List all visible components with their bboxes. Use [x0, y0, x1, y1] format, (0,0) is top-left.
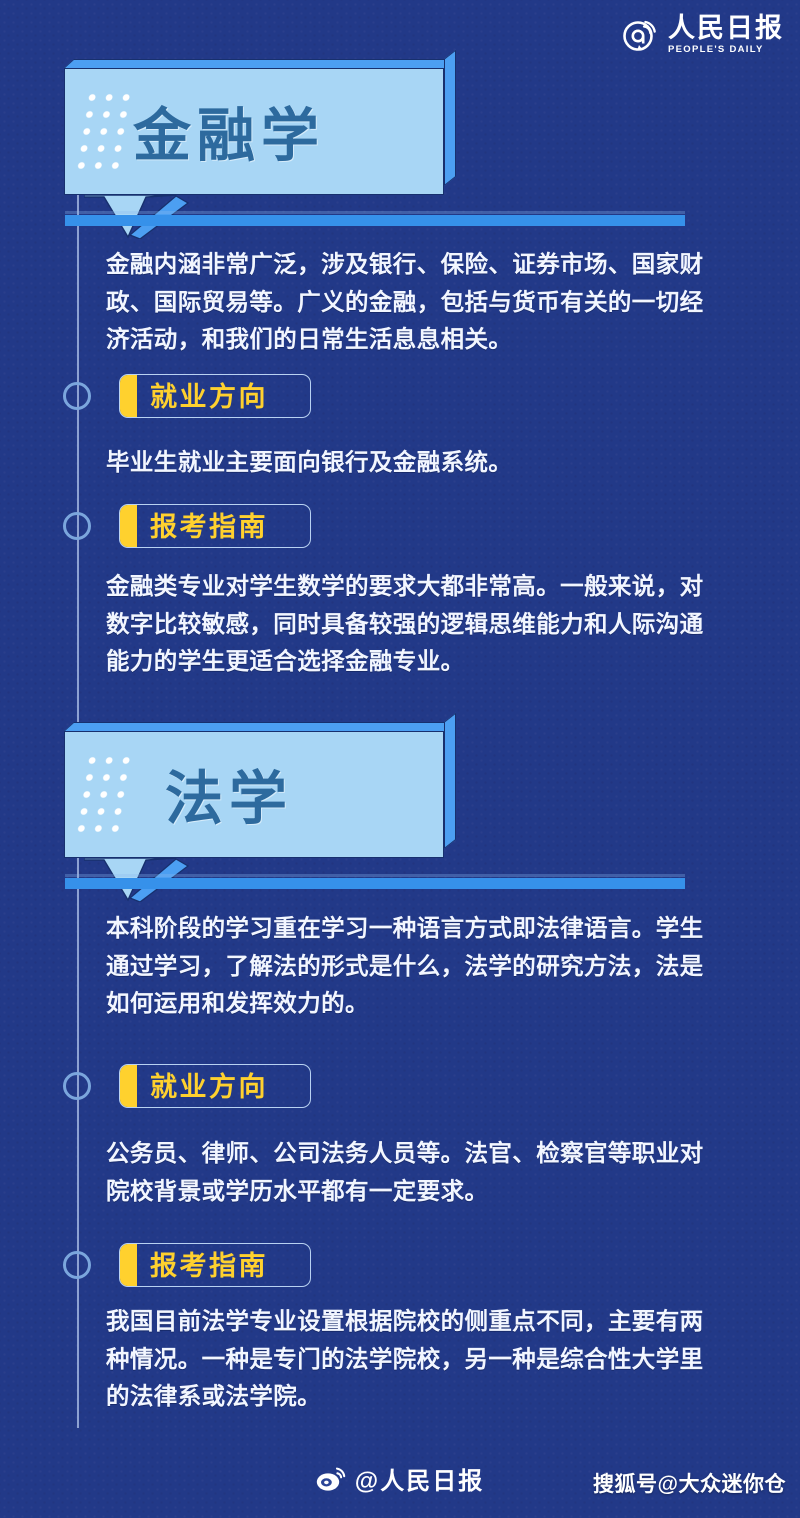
at-sign-wifi-icon: [619, 14, 661, 56]
card-front-face: 法学: [64, 731, 444, 858]
sublabel-accent-bar: [120, 375, 137, 417]
brand-text: 人民日报 PEOPLE'S DAILY: [668, 15, 784, 55]
sublabel-application-guide[interactable]: 报考指南: [119, 1243, 311, 1287]
section-intro-text: 金融内涵非常广泛，涉及银行、保险、证券市场、国家财政、国际贸易等。广义的金融，包…: [106, 246, 720, 359]
sublabel-accent-bar: [120, 505, 137, 547]
block-text: 我国目前法学专业设置根据院校的侧重点不同，主要有两种情况。一种是专门的法学院校，…: [106, 1303, 720, 1416]
block-text: 公务员、律师、公司法务人员等。法官、检察官等职业对院校背景或学历水平都有一定要求…: [106, 1135, 720, 1210]
card-top-face: [64, 59, 454, 68]
section-title-card: 金融学: [64, 68, 444, 195]
card-side-face: [444, 713, 456, 849]
card-top-face: [64, 722, 454, 731]
sublabel-employment[interactable]: 就业方向: [119, 374, 311, 418]
brand-logo: 人民日报 PEOPLE'S DAILY: [619, 14, 784, 56]
section-title-card: 法学: [64, 731, 444, 858]
section-title: 法学: [65, 751, 443, 835]
timeline-marker: [63, 1251, 91, 1279]
sublabel-text: 报考指南: [150, 1244, 268, 1283]
weibo-icon: [316, 1466, 346, 1492]
sublabel-text: 就业方向: [150, 1065, 268, 1104]
brand-name-en: PEOPLE'S DAILY: [668, 44, 764, 55]
card-side-face: [444, 50, 456, 186]
section-title: 金融学: [65, 88, 443, 172]
block-text: 毕业生就业主要面向银行及金融系统。: [106, 444, 720, 482]
sublabel-text: 报考指南: [150, 505, 268, 544]
section-divider-bar: [65, 215, 685, 226]
timeline-marker: [63, 1072, 91, 1100]
weibo-handle: @人民日报: [355, 1461, 484, 1496]
timeline-marker: [63, 512, 91, 540]
brand-name-cn: 人民日报: [668, 15, 784, 43]
sublabel-accent-bar: [120, 1065, 137, 1107]
card-front-face: 金融学: [64, 68, 444, 195]
timeline-marker: [63, 382, 91, 410]
sublabel-application-guide[interactable]: 报考指南: [119, 504, 311, 548]
sublabel-accent-bar: [120, 1244, 137, 1286]
section-intro-text: 本科阶段的学习重在学习一种语言方式即法律语言。学生通过学习，了解法的形式是什么，…: [106, 910, 720, 1023]
section-divider-bar: [65, 878, 685, 889]
source-credit: 搜狐号@大众迷你仓: [593, 1468, 786, 1498]
sublabel-employment[interactable]: 就业方向: [119, 1064, 311, 1108]
sublabel-text: 就业方向: [150, 375, 268, 414]
block-text: 金融类专业对学生数学的要求大都非常高。一般来说，对数字比较敏感，同时具备较强的逻…: [106, 568, 720, 681]
